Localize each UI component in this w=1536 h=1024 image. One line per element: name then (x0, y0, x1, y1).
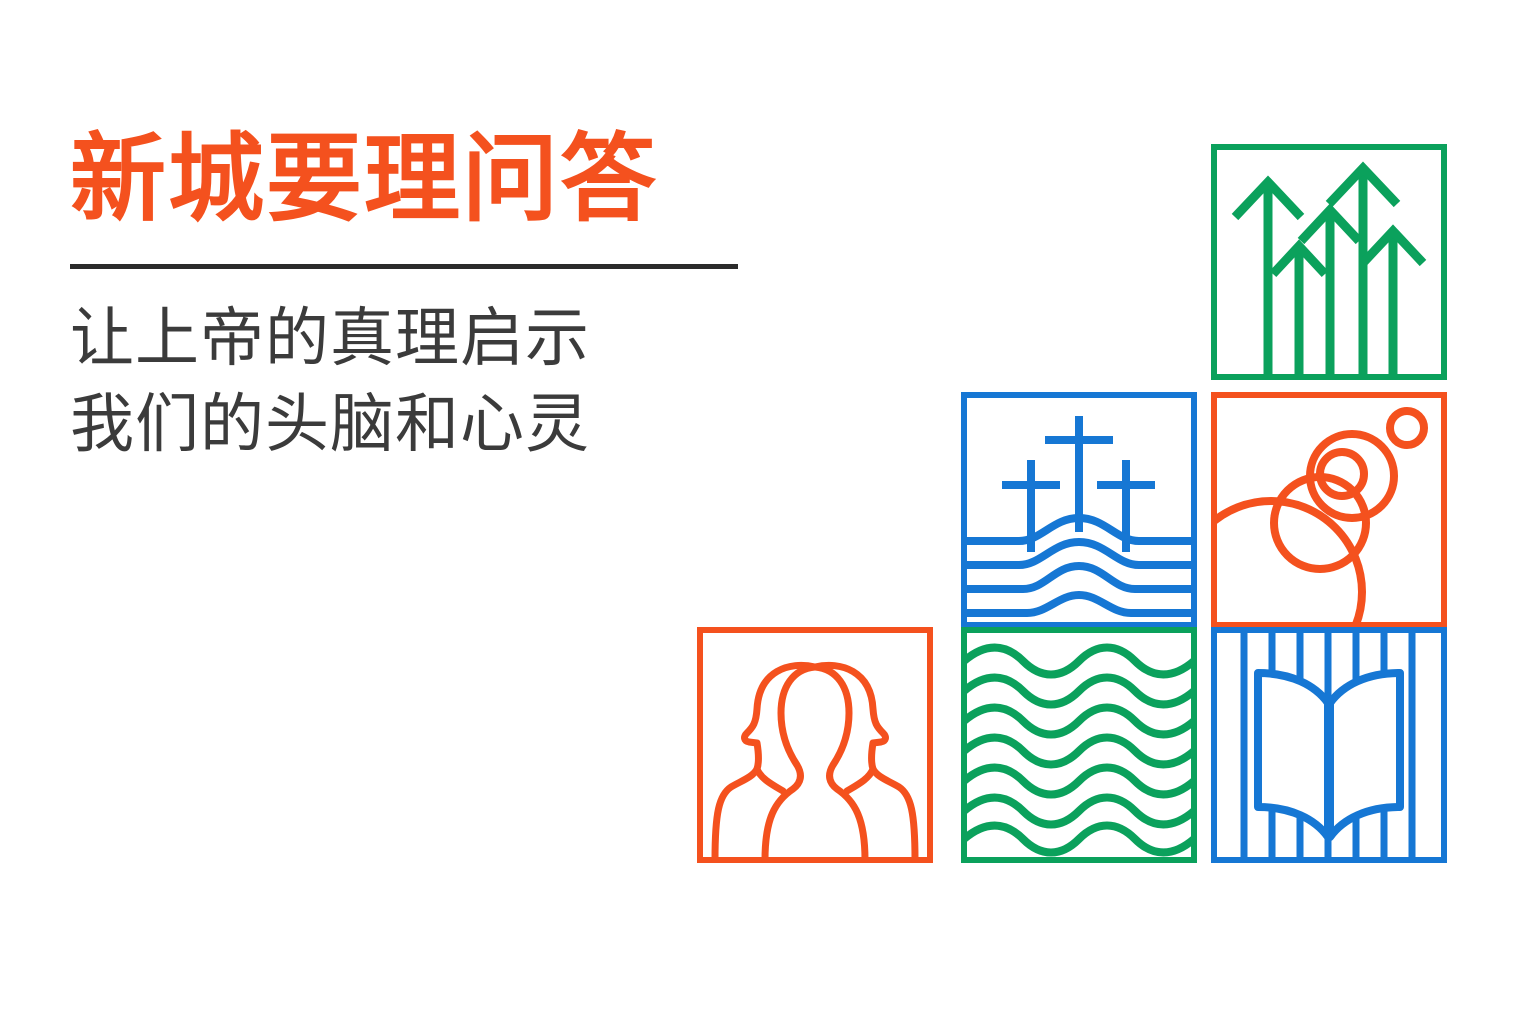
tile-growth-arrows (1211, 144, 1447, 380)
subtitle-line-1: 让上帝的真理启示 (70, 295, 770, 381)
icon-mosaic (697, 144, 1465, 856)
growth-arrows-icon (1211, 144, 1447, 380)
open-book-icon (1211, 627, 1447, 863)
page-title: 新城要理问答 (70, 128, 770, 232)
water-waves-icon (961, 627, 1197, 863)
title-block: 新城要理问答 让上帝的真理启示 我们的头脑和心灵 (70, 128, 770, 467)
poster-canvas: 新城要理问答 让上帝的真理启示 我们的头脑和心灵 (0, 0, 1536, 1024)
title-divider (70, 264, 738, 269)
tile-open-book (1211, 627, 1447, 863)
tile-bubbles (1211, 392, 1447, 628)
two-people-icon (697, 627, 933, 863)
tile-water-waves (961, 627, 1197, 863)
bubbles-icon (1211, 392, 1447, 628)
tile-three-crosses (961, 392, 1197, 628)
subtitle-line-2: 我们的头脑和心灵 (70, 381, 770, 467)
tile-two-people (697, 627, 933, 863)
page-subtitle: 让上帝的真理启示 我们的头脑和心灵 (70, 295, 770, 468)
three-crosses-icon (961, 392, 1197, 628)
